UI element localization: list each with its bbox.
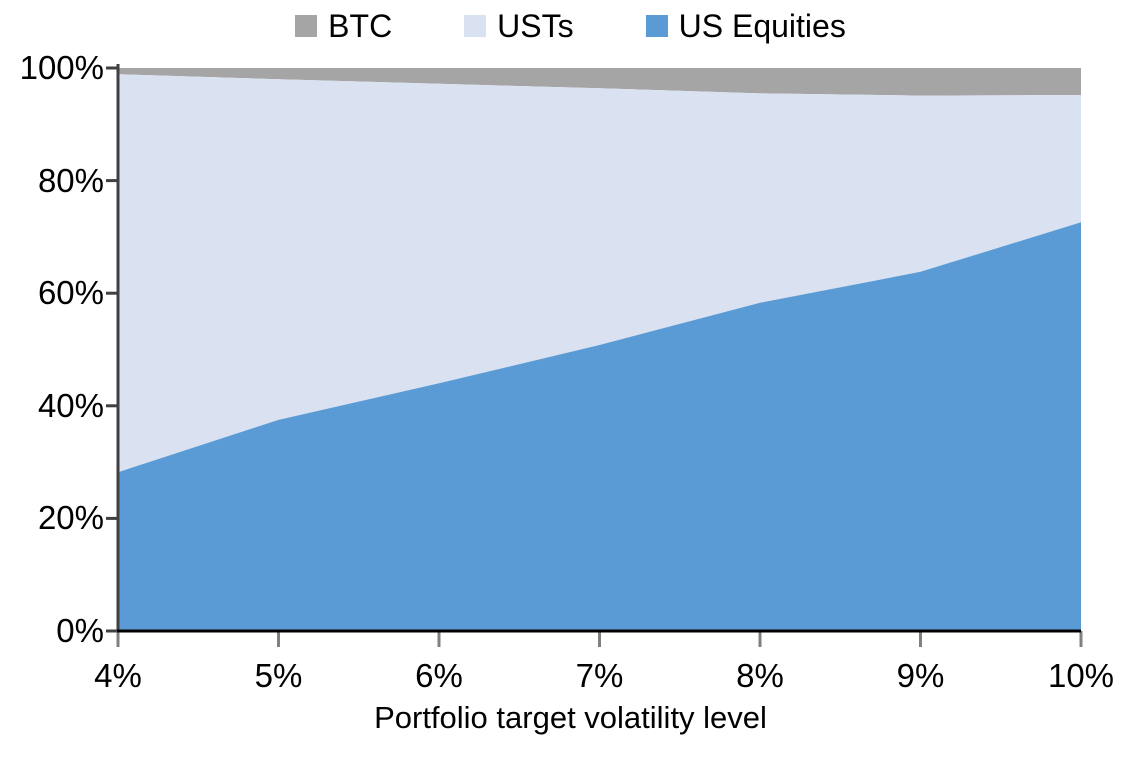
x-axis-tick-label: 7% bbox=[576, 659, 624, 692]
x-axis-tick-label: 6% bbox=[415, 659, 463, 692]
x-axis-tick-label: 5% bbox=[255, 659, 303, 692]
x-axis-tick-label: 4% bbox=[94, 659, 142, 692]
x-axis-tick-label: 9% bbox=[897, 659, 945, 692]
plot-area: 100%80%60%40%20%0% 4%5%6%7%8%9%10% bbox=[0, 0, 1141, 700]
x-axis-tick-labels: 4%5%6%7%8%9%10% bbox=[0, 0, 1141, 700]
x-axis-title: Portfolio target volatility level bbox=[0, 700, 1141, 736]
x-axis-tick-label: 8% bbox=[736, 659, 784, 692]
stacked-area-chart: BTC USTs US Equities 100%80%60%40%20%0% … bbox=[0, 0, 1141, 763]
x-axis-tick-label: 10% bbox=[1048, 659, 1114, 692]
